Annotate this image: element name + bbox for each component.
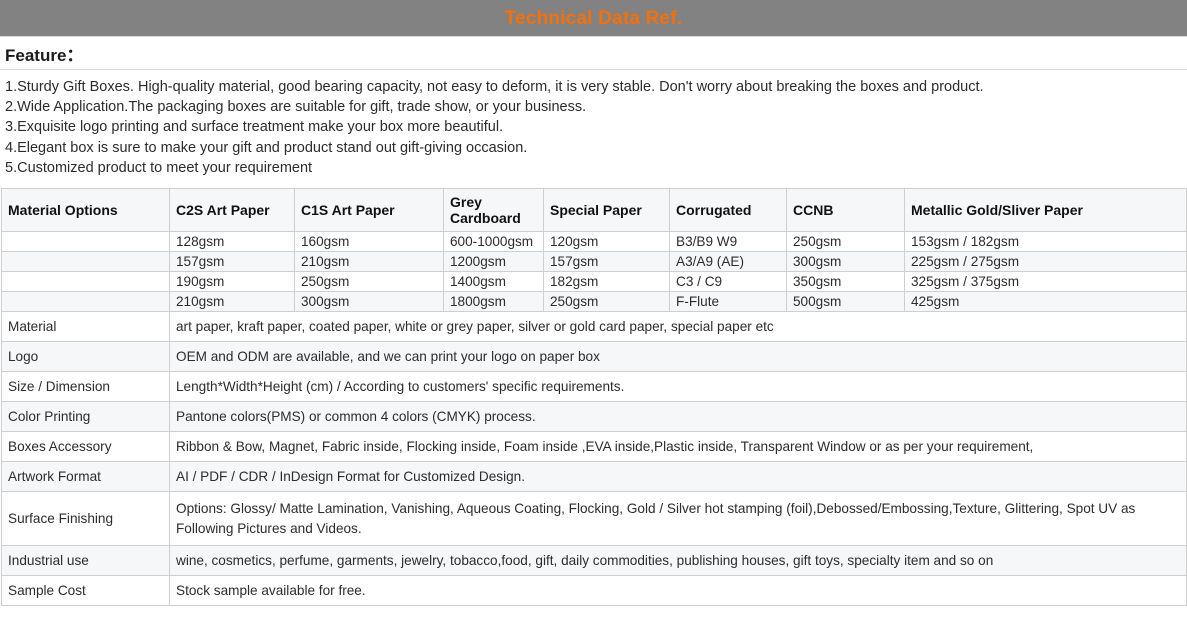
table-header-row: Material Options C2S Art Paper C1S Art P… [2, 189, 1187, 232]
feature-line: 2.Wide Application.The packaging boxes a… [5, 97, 1187, 117]
feature-heading-label: Feature： [5, 41, 83, 66]
table-row: 157gsm 210gsm 1200gsm 157gsm A3/A9 (AE) … [2, 252, 1187, 272]
column-header: Material Options [2, 189, 170, 232]
feature-list: 1.Sturdy Gift Boxes. High-quality materi… [0, 70, 1187, 184]
table-cell: 425gsm [905, 292, 1187, 312]
table-cell [2, 272, 170, 292]
detail-value: AI / PDF / CDR / InDesign Format for Cus… [170, 462, 1187, 492]
detail-row-boxes-accessory: Boxes Accessory Ribbon & Bow, Magnet, Fa… [2, 432, 1187, 462]
page-title: Technical Data Ref. [505, 9, 683, 28]
table-cell: 250gsm [544, 292, 670, 312]
detail-value: Options: Glossy/ Matte Lamination, Vanis… [170, 492, 1187, 546]
feature-line: 1.Sturdy Gift Boxes. High-quality materi… [5, 77, 1187, 97]
table-cell: 250gsm [295, 272, 444, 292]
table-cell: 157gsm [544, 252, 670, 272]
table-cell: 350gsm [787, 272, 905, 292]
table-cell: 128gsm [170, 232, 295, 252]
column-header: Grey Cardboard [444, 189, 544, 232]
detail-value: Pantone colors(PMS) or common 4 colors (… [170, 402, 1187, 432]
feature-line: 3.Exquisite logo printing and surface tr… [5, 117, 1187, 137]
detail-label: Sample Cost [2, 576, 170, 606]
table-cell: 160gsm [295, 232, 444, 252]
detail-row-surface-finishing: Surface Finishing Options: Glossy/ Matte… [2, 492, 1187, 546]
detail-value: Stock sample available for free. [170, 576, 1187, 606]
feature-line: 4.Elegant box is sure to make your gift … [5, 138, 1187, 158]
table-cell: F-Flute [670, 292, 787, 312]
detail-label: Industrial use [2, 546, 170, 576]
table-cell: 153gsm / 182gsm [905, 232, 1187, 252]
table-cell: 182gsm [544, 272, 670, 292]
table-cell [2, 252, 170, 272]
feature-line: 5.Customized product to meet your requir… [5, 158, 1187, 178]
detail-value: art paper, kraft paper, coated paper, wh… [170, 312, 1187, 342]
detail-row-logo: Logo OEM and ODM are available, and we c… [2, 342, 1187, 372]
table-cell: 210gsm [170, 292, 295, 312]
detail-row-color-printing: Color Printing Pantone colors(PMS) or co… [2, 402, 1187, 432]
table-cell [2, 292, 170, 312]
detail-value: wine, cosmetics, perfume, garments, jewe… [170, 546, 1187, 576]
detail-label: Boxes Accessory [2, 432, 170, 462]
detail-label: Size / Dimension [2, 372, 170, 402]
detail-label: Logo [2, 342, 170, 372]
column-header: Corrugated [670, 189, 787, 232]
table-cell: A3/A9 (AE) [670, 252, 787, 272]
table-cell: 300gsm [787, 252, 905, 272]
detail-row-size-dimension: Size / Dimension Length*Width*Height (cm… [2, 372, 1187, 402]
column-header: CCNB [787, 189, 905, 232]
table-cell: 250gsm [787, 232, 905, 252]
detail-row-industrial-use: Industrial use wine, cosmetics, perfume,… [2, 546, 1187, 576]
column-header: C1S Art Paper [295, 189, 444, 232]
table-cell: 325gsm / 375gsm [905, 272, 1187, 292]
technical-data-sheet: Technical Data Ref. Feature： 1.Sturdy Gi… [0, 0, 1187, 620]
table-cell: 210gsm [295, 252, 444, 272]
table-cell: 600-1000gsm [444, 232, 544, 252]
table-cell: 1800gsm [444, 292, 544, 312]
detail-row-artwork-format: Artwork Format AI / PDF / CDR / InDesign… [2, 462, 1187, 492]
table-cell: 157gsm [170, 252, 295, 272]
detail-label: Artwork Format [2, 462, 170, 492]
table-row: 210gsm 300gsm 1800gsm 250gsm F-Flute 500… [2, 292, 1187, 312]
feature-heading: Feature： [0, 37, 1187, 70]
table-row: 128gsm 160gsm 600-1000gsm 120gsm B3/B9 W… [2, 232, 1187, 252]
specification-table: Material Options C2S Art Paper C1S Art P… [1, 188, 1187, 606]
table-cell: 120gsm [544, 232, 670, 252]
detail-row-sample-cost: Sample Cost Stock sample available for f… [2, 576, 1187, 606]
table-cell: 225gsm / 275gsm [905, 252, 1187, 272]
detail-value: OEM and ODM are available, and we can pr… [170, 342, 1187, 372]
column-header: C2S Art Paper [170, 189, 295, 232]
detail-label: Material [2, 312, 170, 342]
table-cell: B3/B9 W9 [670, 232, 787, 252]
table-row: 190gsm 250gsm 1400gsm 182gsm C3 / C9 350… [2, 272, 1187, 292]
detail-row-material: Material art paper, kraft paper, coated … [2, 312, 1187, 342]
table-cell: C3 / C9 [670, 272, 787, 292]
column-header: Metallic Gold/Sliver Paper [905, 189, 1187, 232]
detail-value: Ribbon & Bow, Magnet, Fabric inside, Flo… [170, 432, 1187, 462]
table-cell: 500gsm [787, 292, 905, 312]
detail-label: Color Printing [2, 402, 170, 432]
detail-label: Surface Finishing [2, 492, 170, 546]
table-cell [2, 232, 170, 252]
column-header: Special Paper [544, 189, 670, 232]
table-cell: 190gsm [170, 272, 295, 292]
table-cell: 300gsm [295, 292, 444, 312]
table-cell: 1200gsm [444, 252, 544, 272]
detail-value: Length*Width*Height (cm) / According to … [170, 372, 1187, 402]
title-banner: Technical Data Ref. [0, 0, 1187, 37]
table-cell: 1400gsm [444, 272, 544, 292]
